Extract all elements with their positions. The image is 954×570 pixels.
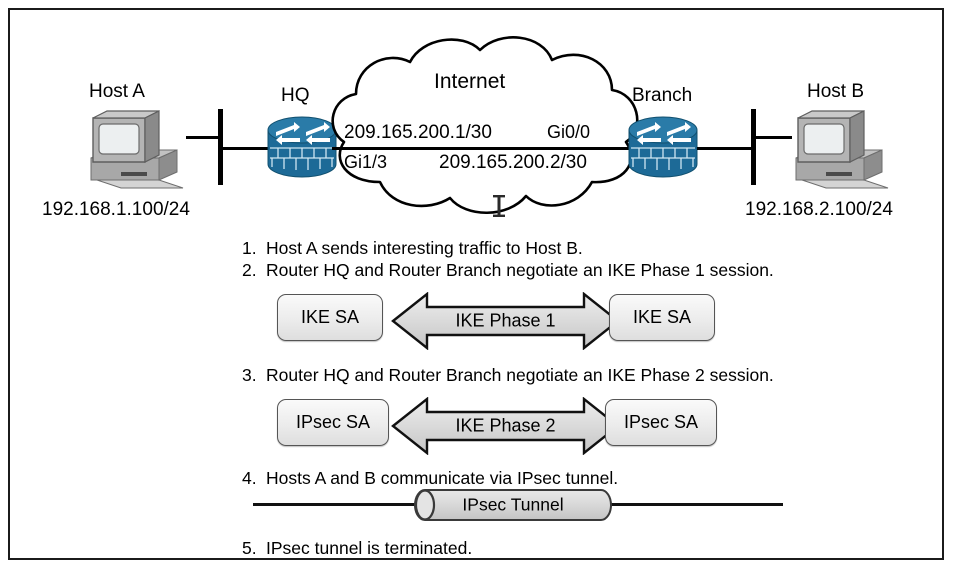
ike-phase-2-label: IKE Phase 2 xyxy=(391,416,620,437)
host-b-ip-label: 192.168.2.100/24 xyxy=(745,199,893,221)
host-b-label: Host B xyxy=(807,81,864,103)
host-a-label: Host A xyxy=(89,81,145,103)
branch-interface-ip: 209.165.200.2/30 xyxy=(439,152,587,174)
branch-interface-port: Gi0/0 xyxy=(547,122,590,143)
tunnel-line-right xyxy=(608,503,783,506)
hq-interface-ip: 209.165.200.1/30 xyxy=(344,122,492,144)
ipsec-tunnel-label: IPsec Tunnel xyxy=(412,495,614,516)
step-text: Router HQ and Router Branch negotiate an… xyxy=(266,365,774,385)
step-number: 1. xyxy=(242,238,266,259)
link-host-b xyxy=(754,136,792,139)
ike-phase-1-arrow: IKE Phase 1 xyxy=(391,292,620,350)
hq-router-label: HQ xyxy=(281,85,310,107)
ipsec-sa-box-right: IPsec SA xyxy=(605,399,717,446)
desktop-computer-icon-host-b xyxy=(788,110,893,192)
internet-cloud-label: Internet xyxy=(434,70,505,94)
tunnel-line-left xyxy=(253,503,428,506)
host-a-ip-label: 192.168.1.100/24 xyxy=(42,199,190,221)
step-item-5: 5.IPsec tunnel is terminated. xyxy=(242,538,472,559)
link-host-a xyxy=(186,136,220,139)
step-text: Host A sends interesting traffic to Host… xyxy=(266,238,583,258)
ipsec-sa-box-left: IPsec SA xyxy=(277,399,389,446)
link-hq xyxy=(220,147,268,150)
diagram-frame: Host A 192.168.1.100/24 HQ xyxy=(8,8,944,560)
step-number: 5. xyxy=(242,538,266,559)
ike-sa-box-right: IKE SA xyxy=(609,294,715,341)
ike-sa-box-left: IKE SA xyxy=(277,294,383,341)
link-branch xyxy=(697,147,753,150)
ipsec-tunnel-shape: IPsec Tunnel xyxy=(412,488,614,522)
step-item-4: 4.Hosts A and B communicate via IPsec tu… xyxy=(242,468,618,489)
diagram-page: Host A 192.168.1.100/24 HQ xyxy=(0,0,954,570)
step-text: Hosts A and B communicate via IPsec tunn… xyxy=(266,468,618,488)
lan-segment-right xyxy=(751,109,756,185)
step-item-2: 2.Router HQ and Router Branch negotiate … xyxy=(242,260,774,281)
router-icon-branch xyxy=(625,114,701,180)
step-number: 4. xyxy=(242,468,266,489)
step-item-3: 3.Router HQ and Router Branch negotiate … xyxy=(242,365,774,386)
step-text: Router HQ and Router Branch negotiate an… xyxy=(266,260,774,280)
text-ibeam-cursor xyxy=(491,194,507,218)
step-number: 2. xyxy=(242,260,266,281)
wan-link xyxy=(332,147,640,150)
step-text: IPsec tunnel is terminated. xyxy=(266,538,472,558)
branch-router-label: Branch xyxy=(632,85,692,107)
ike-phase-1-label: IKE Phase 1 xyxy=(391,311,620,332)
desktop-computer-icon-host-a xyxy=(83,110,188,192)
step-number: 3. xyxy=(242,365,266,386)
ike-phase-2-arrow: IKE Phase 2 xyxy=(391,397,620,455)
hq-interface-port: Gi1/3 xyxy=(344,152,387,173)
step-item-1: 1.Host A sends interesting traffic to Ho… xyxy=(242,238,583,259)
